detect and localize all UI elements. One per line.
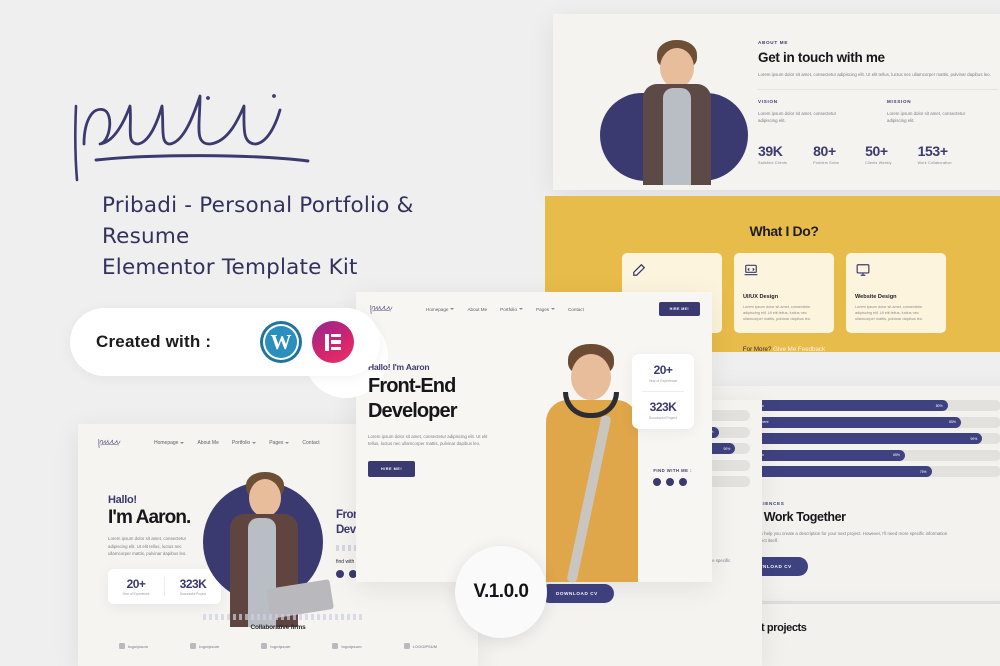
stat-value: 20+ xyxy=(108,577,164,591)
nav-item-portfolio[interactable]: Portfolio xyxy=(500,307,523,312)
hero-stat-card: 20+ Year of Experience 323K Successful P… xyxy=(632,354,694,429)
nav-item-portfolio[interactable]: Portfolio xyxy=(232,440,256,446)
about-heading: Get in touch with me xyxy=(758,50,998,65)
stat-label: Clients Weekly xyxy=(865,161,892,165)
skill-bar-track: Elementor 75% xyxy=(734,466,1000,477)
stat-item: 80+ Problem Solve xyxy=(813,143,839,165)
big-hero-text-block: Hallo! I'm Aaron. Lorem ipsum dolor sit … xyxy=(108,494,218,604)
stat-item: 50+ Clients Weekly xyxy=(865,143,892,165)
service-title: UI/UX Design xyxy=(743,294,825,300)
behance-icon[interactable] xyxy=(666,478,674,486)
skill-bar-track: Graphic Design 80% xyxy=(734,400,1000,411)
chevron-down-icon xyxy=(285,442,289,444)
client-logo: LOGOIPSUM xyxy=(404,643,437,649)
greeting-text: Hallo! xyxy=(108,494,218,506)
mission-label: MISSION xyxy=(887,99,982,104)
chevron-down-icon xyxy=(450,308,454,310)
nav-menu: Homepage About Me Portfolio Pages Contac… xyxy=(426,307,584,312)
skill-percent: 90% xyxy=(971,437,978,441)
wordpress-icon: W xyxy=(260,321,302,363)
divider xyxy=(642,391,684,392)
vision-text: Lorem ipsum dolor sit amet, consectetur … xyxy=(758,110,853,125)
experience-heading: Let's Work Together xyxy=(734,510,1000,524)
facebook-icon[interactable] xyxy=(336,570,344,578)
service-title: Website Design xyxy=(855,294,937,300)
poster-stage: ABOUT ME Get in touch with me Lorem ipsu… xyxy=(0,0,1000,666)
created-with-logos: W xyxy=(260,321,354,363)
about-eyebrow: ABOUT ME xyxy=(758,40,998,45)
hero-mockup-panel: Homepage About Me Portfolio Pages Contac… xyxy=(356,292,712,582)
hero-paragraph: Lorem ipsum dolor sit amet, consectetur … xyxy=(368,433,496,448)
facebook-icon[interactable] xyxy=(653,478,661,486)
nav-item-pages[interactable]: Pages xyxy=(269,440,289,446)
about-person-photo xyxy=(631,40,723,185)
version-badge: V.1.0.0 xyxy=(455,546,547,638)
stat-value: 80+ xyxy=(813,143,839,159)
mission-text: Lorem ipsum dolor sit amet, consectetur … xyxy=(887,110,982,125)
big-hero-stat-card: 20+ Year of Experience 323K Successful P… xyxy=(108,569,221,604)
pencil-icon xyxy=(631,263,647,277)
stat-label: Problem Solve xyxy=(813,161,839,165)
stat-item: 153+ Work Collaboration xyxy=(918,143,952,165)
skill-percent: 80% xyxy=(936,404,943,408)
nav-item-homepage[interactable]: Homepage xyxy=(426,307,454,312)
skill-percent: 65% xyxy=(893,453,900,457)
client-logo: logoipsum xyxy=(261,643,290,649)
nav-item-contact[interactable]: Contact xyxy=(568,307,584,312)
stat-value: 323K xyxy=(632,400,694,414)
client-logo: logoipsum xyxy=(332,643,361,649)
experience-eyebrow: MY EXPERIENCES xyxy=(734,501,1000,506)
stat-value: 39K xyxy=(758,143,787,159)
skill-percent: 90% xyxy=(724,447,731,451)
name-heading: I'm Aaron. xyxy=(108,507,218,529)
stat-label: Satisfied Clients xyxy=(758,161,787,165)
pribadi-logo-icon[interactable] xyxy=(368,303,402,314)
hero-heading-line1: Front-End xyxy=(368,374,518,399)
what-i-do-title: What I Do? xyxy=(545,196,1000,239)
site-navbar: Homepage About Me Portfolio Pages Contac… xyxy=(356,292,712,316)
experience-paragraph: Certainly, I can help you create a descr… xyxy=(734,530,949,545)
stat-label: Year of Experience xyxy=(108,592,164,596)
chevron-down-icon xyxy=(519,308,523,310)
hero-social-row: FIND WITH ME : xyxy=(653,468,692,486)
nav-item-homepage[interactable]: Homepage xyxy=(154,440,184,446)
skill-bar-track: Website Design 65% xyxy=(734,450,1000,461)
find-with-me-label: FIND WITH ME : xyxy=(653,468,692,473)
person-head xyxy=(249,479,281,517)
skill-percent: 85% xyxy=(949,420,956,424)
stat-label: Year of Experience xyxy=(632,379,694,383)
feedback-link[interactable]: Give Me Feedback xyxy=(773,346,825,353)
footer-text: For More? xyxy=(743,346,772,353)
big-hero-person-photo xyxy=(216,472,312,627)
skill-bar-fill: Graphic Design 80% xyxy=(734,400,948,411)
service-text: Lorem ipsum dolor sit amet, consectetur … xyxy=(855,304,937,322)
collab-title: Collaborative firms xyxy=(78,624,478,631)
service-text: Lorem ipsum dolor sit amet, consectetur … xyxy=(743,304,825,322)
stat-value: 20+ xyxy=(632,363,694,377)
hero-text-block: Hallo! I'm Aaron Front-End Developer Lor… xyxy=(368,362,518,477)
chevron-down-icon xyxy=(551,308,555,310)
wavy-divider-bottom xyxy=(203,614,363,620)
logo-mark-icon xyxy=(261,643,267,649)
created-with-label: Created with : xyxy=(96,332,211,352)
skill-percent: 75% xyxy=(920,470,927,474)
skill-bar-track: UI / UX 90% xyxy=(734,433,1000,444)
nav-menu: Homepage About Me Portfolio Pages Contac… xyxy=(154,440,320,446)
collab-logo-list: logoipsum logoipsum logoipsum logoipsum … xyxy=(78,643,478,649)
nav-item-about-me[interactable]: About Me xyxy=(467,307,487,312)
stat-value: 153+ xyxy=(918,143,952,159)
nav-item-about-me[interactable]: About Me xyxy=(197,440,218,446)
stat-label: Successful Project xyxy=(165,592,221,596)
stat-value: 50+ xyxy=(865,143,892,159)
nav-item-contact[interactable]: Contact xyxy=(302,440,319,446)
dribbble-icon[interactable] xyxy=(679,478,687,486)
about-content: ABOUT ME Get in touch with me Lorem ipsu… xyxy=(758,40,998,165)
chevron-down-icon xyxy=(252,442,256,444)
client-logo: logoipsum xyxy=(119,643,148,649)
big-hero-paragraph: Lorem ipsum dolor sit amet, consectetur … xyxy=(108,535,200,558)
stat-item: 323K Successful Project xyxy=(165,577,221,596)
about-stats: 39K Satisfied Clients 80+ Problem Solve … xyxy=(758,143,998,165)
hero-heading-line2: Developer xyxy=(368,399,518,424)
stat-label: Work Collaboration xyxy=(918,161,952,165)
hero-eyebrow: Hallo! I'm Aaron xyxy=(368,362,518,372)
created-with-badge: Created with : W xyxy=(70,308,380,376)
collaborative-firms-section: Collaborative firms logoipsum logoipsum … xyxy=(78,624,478,649)
mission-column: MISSION Lorem ipsum dolor sit amet, cons… xyxy=(887,99,982,125)
skill-bar-fill: Web Development 85% xyxy=(734,417,961,428)
service-card[interactable]: UI/UX Design Lorem ipsum dolor sit amet,… xyxy=(734,253,834,333)
hero-hire-me-button[interactable]: HIRE ME! xyxy=(368,461,415,477)
social-icon-list xyxy=(653,478,692,486)
logo-mark-icon xyxy=(404,643,410,649)
hire-me-button[interactable]: HIRE ME! xyxy=(659,302,700,316)
brand-block: Pribadi - Personal Portfolio & Resume El… xyxy=(62,84,492,283)
about-me-mockup-panel: ABOUT ME Get in touch with me Lorem ipsu… xyxy=(553,14,1000,190)
stat-value: 323K xyxy=(165,577,221,591)
elementor-icon xyxy=(312,321,354,363)
vision-column: VISION Lorem ipsum dolor sit amet, conse… xyxy=(758,99,853,125)
client-logo: logoipsum xyxy=(190,643,219,649)
vision-mission-row: VISION Lorem ipsum dolor sit amet, conse… xyxy=(758,89,998,125)
version-text: V.1.0.0 xyxy=(474,581,529,603)
stat-item: 20+ Year of Experience xyxy=(108,577,164,596)
logo-mark-icon xyxy=(119,643,125,649)
chevron-down-icon xyxy=(180,442,184,444)
download-cv-button[interactable]: DOWNLOAD CV xyxy=(540,584,614,603)
logo-mark-icon xyxy=(190,643,196,649)
stat-item: 39K Satisfied Clients xyxy=(758,143,787,165)
skill-bar-fill: Elementor 75% xyxy=(734,466,932,477)
about-paragraph: Lorem ipsum dolor sit amet, consectetur … xyxy=(758,71,998,79)
person-head xyxy=(660,48,694,88)
nav-item-pages[interactable]: Pages xyxy=(536,307,555,312)
person-shirt xyxy=(663,88,691,185)
page-title-line2: Elementor Template Kit xyxy=(102,252,492,283)
laptop-code-icon xyxy=(743,263,759,277)
hero-heading: Front-End Developer xyxy=(368,374,518,424)
pribadi-logo-icon[interactable] xyxy=(96,437,130,448)
monitor-icon xyxy=(855,263,871,277)
skill-bar-fill: UI / UX 90% xyxy=(734,433,982,444)
pribadi-wordmark-icon xyxy=(62,84,342,184)
stat-label: Successful Project xyxy=(632,416,694,420)
page-title-line1: Pribadi - Personal Portfolio & Resume xyxy=(102,190,492,252)
service-card[interactable]: Website Design Lorem ipsum dolor sit ame… xyxy=(846,253,946,333)
vision-label: VISION xyxy=(758,99,853,104)
skill-bar-track: Web Development 85% xyxy=(734,417,1000,428)
page-title: Pribadi - Personal Portfolio & Resume El… xyxy=(102,190,492,283)
logo-mark-icon xyxy=(332,643,338,649)
